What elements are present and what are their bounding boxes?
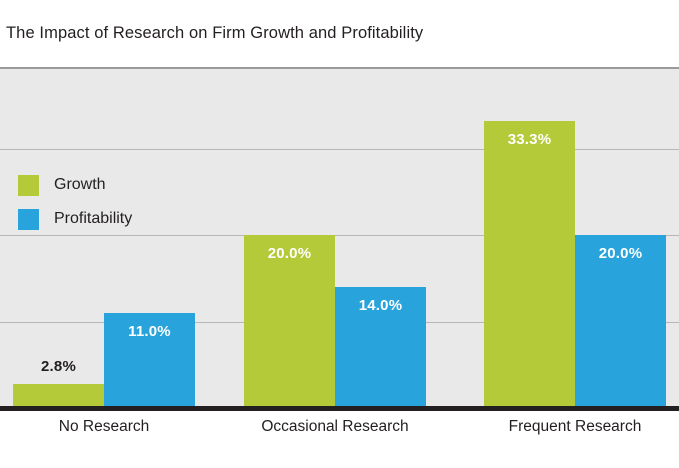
bar-chart: The Impact of Research on Firm Growth an… [0,0,679,468]
x-axis-label-0: No Research [0,418,220,436]
x-axis-label-2: Frequent Research [459,418,679,436]
chart-title: The Impact of Research on Firm Growth an… [6,24,423,43]
bar-growth-1[interactable]: 20.0% [244,235,335,408]
bar-value-label: 14.0% [335,297,426,314]
x-axis-line [0,406,679,411]
gridline [0,149,679,150]
legend-item-profitability[interactable]: Profitability [18,202,132,236]
bar-value-label: 33.3% [484,131,575,148]
plot-top-border [0,67,679,69]
bar-value-label: 2.8% [13,358,104,375]
legend-item-growth[interactable]: Growth [18,168,132,202]
legend: Growth Profitability [18,168,132,236]
legend-label-profitability: Profitability [54,210,132,228]
bar-value-label: 20.0% [575,245,666,262]
plot-area: 2.8%11.0%20.0%14.0%33.3%20.0% [0,67,679,408]
bar-profitability-1[interactable]: 14.0% [335,287,426,408]
bar-value-label: 11.0% [104,323,195,340]
legend-swatch-profitability-icon [18,209,39,230]
bar-value-label: 20.0% [244,245,335,262]
x-axis-label-1: Occasional Research [219,418,451,436]
legend-swatch-growth-icon [18,175,39,196]
legend-label-growth: Growth [54,176,106,194]
bar-growth-0[interactable]: 2.8% [13,384,104,408]
bar-profitability-2[interactable]: 20.0% [575,235,666,408]
bar-growth-2[interactable]: 33.3% [484,121,575,408]
bar-profitability-0[interactable]: 11.0% [104,313,195,408]
